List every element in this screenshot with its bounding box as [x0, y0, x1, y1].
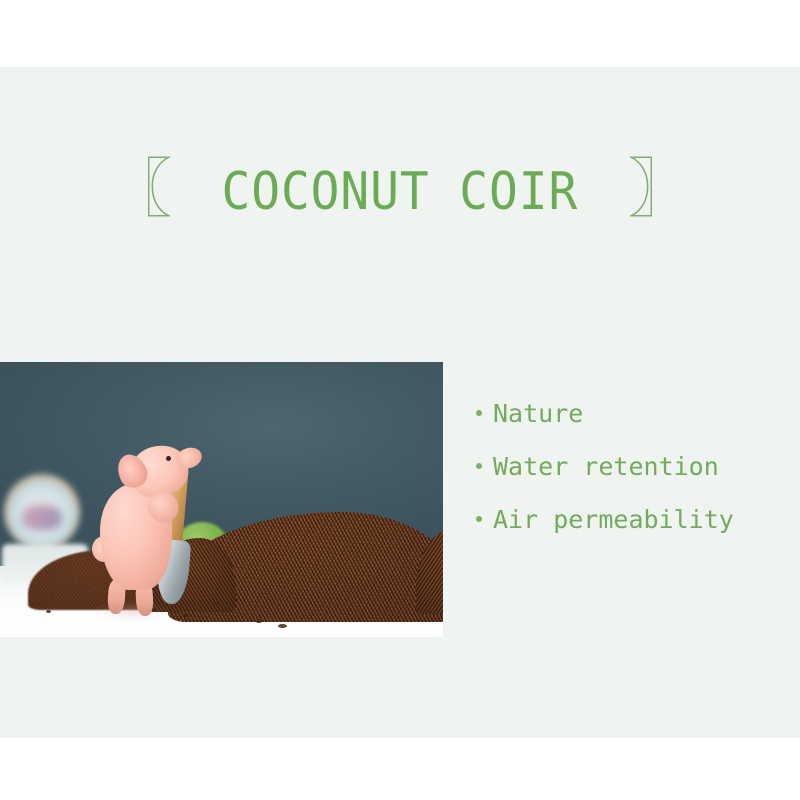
list-item: Water retention [476, 454, 776, 507]
list-item: Air permeability [476, 507, 776, 560]
coir-crumb [46, 610, 51, 613]
coir-crumb [152, 608, 157, 611]
feature-label: Nature [493, 401, 583, 426]
bullet-dot-icon [476, 410, 482, 416]
coir-crumb [214, 602, 218, 605]
blurred-round-object [4, 474, 80, 550]
bullet-dot-icon [476, 516, 482, 522]
coir-crumb [182, 614, 189, 617]
product-photo [0, 362, 443, 637]
coir-crumb [278, 624, 287, 628]
product-banner: 〖 COCONUT COIR 〗 [0, 0, 800, 800]
feature-label: Water retention [493, 454, 719, 479]
pig-eye [166, 456, 171, 461]
photo-scene [0, 362, 443, 637]
feature-list: Nature Water retention Air permeability [476, 401, 776, 560]
feature-label: Air permeability [493, 507, 734, 532]
table-reflection [94, 602, 170, 620]
list-item: Nature [476, 401, 776, 454]
bullet-dot-icon [476, 463, 482, 469]
coir-crumb [256, 620, 262, 623]
